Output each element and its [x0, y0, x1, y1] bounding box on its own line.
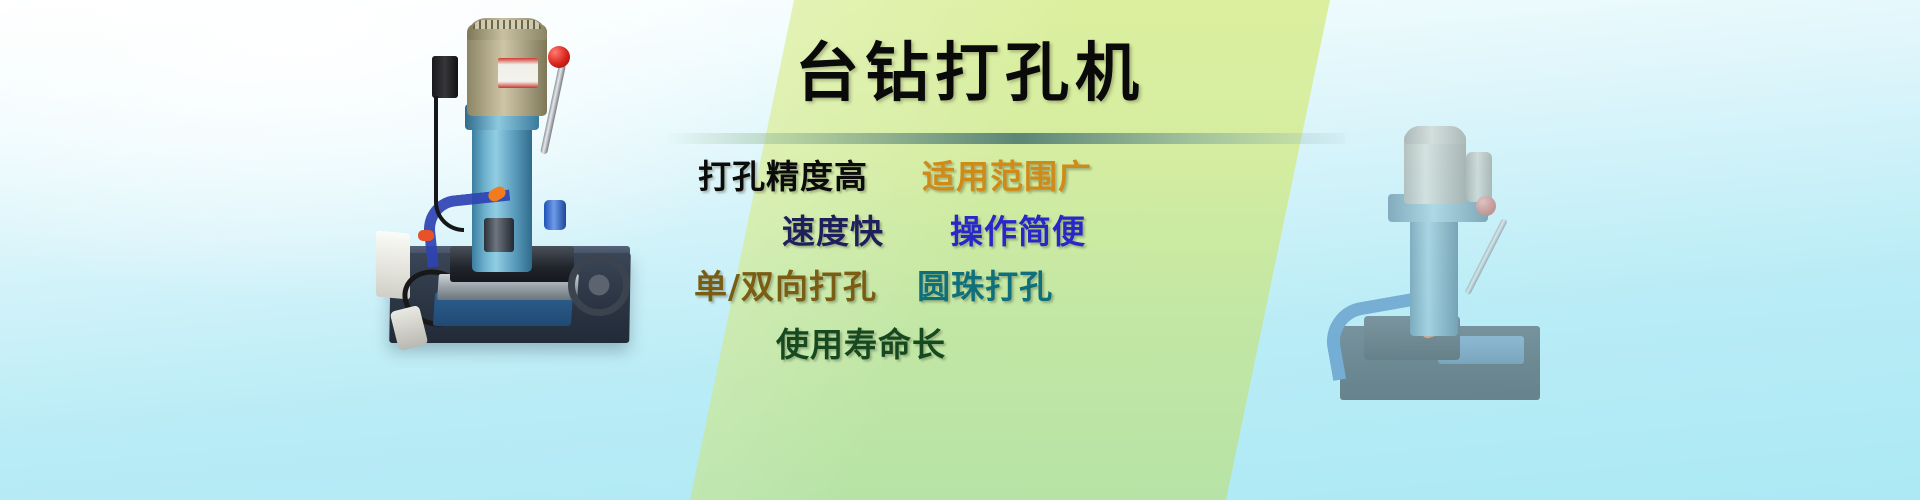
machine-lever-knob [548, 46, 570, 68]
feature-row-2: 速度快 操作简便 [660, 205, 1360, 253]
feature-easy-operation: 操作简便 [950, 205, 1086, 253]
product-banner: 台钻打孔机 打孔精度高 适用范围广 速度快 操作简便 单/双向打孔 圆珠打孔 使… [0, 0, 1920, 500]
machine-motor-vents [473, 20, 541, 29]
machine-spec-label [498, 58, 538, 88]
feature-row-4: 使用寿命长 [660, 318, 1360, 366]
machine-cable [434, 96, 464, 232]
machine2-column [1410, 202, 1458, 336]
feature-drill-precision: 打孔精度高 [698, 150, 868, 198]
title-divider [665, 133, 1345, 144]
machine2-motor-cap [1404, 126, 1466, 144]
feature-row-1: 打孔精度高 适用范围广 [660, 150, 1360, 198]
feature-single-double-drilling: 单/双向打孔 [694, 260, 877, 308]
bench-drill-machine-main-photo [372, 18, 652, 363]
bench-drill-machine-faded-photo [1330, 130, 1560, 400]
feature-bead-drilling: 圆珠打孔 [917, 260, 1053, 308]
machine-switch-box [432, 56, 458, 98]
feature-wide-application: 适用范围广 [922, 150, 1092, 198]
feature-fast-speed: 速度快 [782, 205, 884, 253]
machine2-lever-knob [1476, 196, 1496, 216]
machine2-feed-lever [1464, 218, 1507, 296]
banner-title: 台钻打孔机 [760, 40, 1180, 107]
machine2-capacitor [1466, 152, 1492, 202]
feature-list: 打孔精度高 适用范围广 速度快 操作简便 单/双向打孔 圆珠打孔 使用寿命长 [660, 150, 1360, 400]
machine-blue-cap [544, 200, 566, 230]
machine-hand-wheel [568, 254, 630, 316]
machine-hose-nozzle-secondary [418, 230, 434, 241]
feature-long-lifespan: 使用寿命长 [776, 318, 946, 366]
feature-row-3: 单/双向打孔 圆珠打孔 [660, 260, 1360, 308]
